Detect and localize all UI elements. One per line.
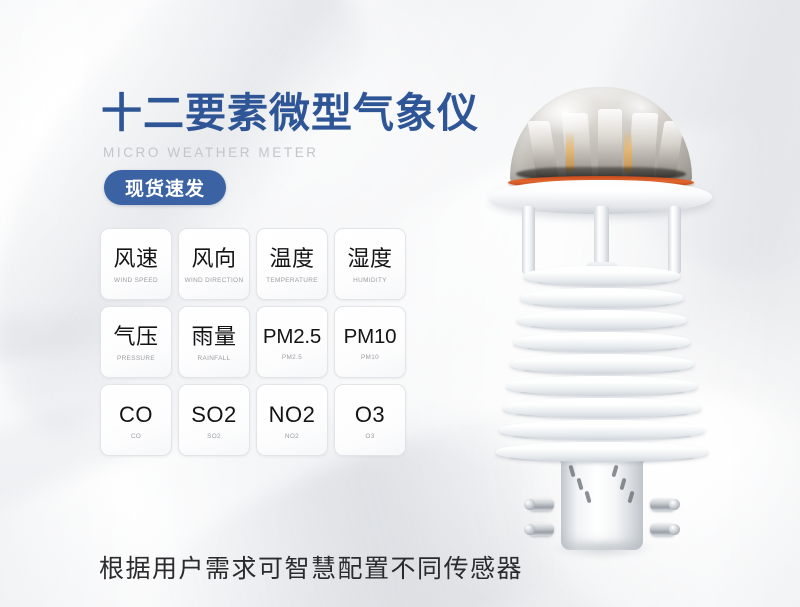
feature-cell[interactable]: SO2SO2: [178, 384, 250, 456]
feature-label-en: SO2: [207, 433, 221, 440]
feature-label-en: WIND DIRECTION: [185, 277, 244, 284]
louver-plate: [503, 398, 701, 418]
cable-connector-left-1: [528, 498, 554, 511]
feature-label-cn: NO2: [269, 403, 316, 426]
louver-plate: [510, 354, 694, 374]
page-title: 十二要素微型气象仪: [101, 92, 479, 135]
feature-label-cn: O3: [355, 403, 385, 426]
support-post-1: [522, 206, 535, 274]
feature-cell[interactable]: 风速WIND SPEED: [100, 228, 172, 300]
feature-label-cn: SO2: [191, 403, 237, 426]
cable-connector-right-1: [650, 498, 676, 511]
product-image-micro-weather-station: [466, 80, 738, 590]
dome-amber-element-1: [566, 131, 574, 171]
feature-label-cn: 雨量: [191, 325, 236, 348]
support-post-3: [668, 206, 681, 274]
top-collar-highlight: [510, 186, 690, 193]
feature-label-cn: 气压: [113, 325, 158, 348]
feature-cell[interactable]: O3O3: [334, 384, 406, 456]
base-vent-slot: [611, 465, 618, 478]
louver-plate: [496, 442, 708, 462]
feature-label-cn: 湿度: [347, 247, 392, 270]
feature-label-cn: PM2.5: [263, 326, 321, 348]
base-vent-slot: [627, 491, 634, 504]
feature-label-cn: PM10: [344, 326, 397, 348]
base-vent-slot: [576, 478, 583, 491]
feature-label-cn: 温度: [269, 247, 314, 270]
louver-plate: [507, 376, 698, 396]
feature-cell[interactable]: 风向WIND DIRECTION: [178, 228, 250, 300]
base-drop-shadow: [552, 542, 654, 558]
feature-cell[interactable]: 雨量RAINFALL: [178, 306, 250, 378]
louver-plate: [521, 288, 684, 308]
feature-label-en: WIND SPEED: [114, 277, 158, 284]
cable-connector-left-2: [528, 523, 554, 536]
louver-plate: [514, 332, 691, 352]
caption-text: 根据用户需求可智慧配置不同传感器: [99, 549, 523, 585]
feature-cell[interactable]: NO2NO2: [256, 384, 328, 456]
feature-cell[interactable]: 湿度HUMIDITY: [334, 228, 406, 300]
feature-cell[interactable]: 温度TEMPERATURE: [256, 228, 328, 300]
feature-label-en: NO2: [285, 433, 299, 440]
feature-label-en: PM10: [361, 354, 379, 361]
feature-label-en: TEMPERATURE: [266, 277, 318, 284]
feature-label-en: HUMIDITY: [353, 277, 387, 284]
base-vent-slot: [619, 478, 626, 491]
feature-label-en: RAINFALL: [198, 355, 231, 362]
product-banner: 十二要素微型气象仪 MICRO WEATHER METER 现货速发 风速WIN…: [0, 0, 800, 607]
radiation-shield-louver-stack: [466, 266, 738, 466]
page-subtitle: MICRO WEATHER METER: [103, 145, 319, 160]
feature-label-cn: CO: [119, 403, 153, 426]
feature-label-en: CO: [131, 433, 141, 440]
feature-label-en: O3: [365, 433, 374, 440]
sensor-dome: [510, 87, 692, 185]
feature-label-cn: 风向: [191, 247, 236, 270]
feature-label-en: PM2.5: [282, 354, 302, 361]
feature-label-cn: 风速: [113, 247, 158, 270]
status-badge[interactable]: 现货速发: [104, 170, 226, 205]
cable-connector-right-2: [650, 523, 676, 536]
base-vent-slot: [568, 465, 575, 478]
base-cylinder: [561, 458, 643, 550]
louver-plate: [524, 266, 680, 286]
feature-grid: 风速WIND SPEED风向WIND DIRECTION温度TEMPERATUR…: [100, 228, 406, 456]
feature-cell[interactable]: PM10PM10: [334, 306, 406, 378]
louver-plate: [517, 310, 687, 330]
louver-plate: [500, 420, 705, 440]
feature-cell[interactable]: PM2.5PM2.5: [256, 306, 328, 378]
base-vent-slot: [584, 491, 591, 504]
feature-cell[interactable]: COCO: [100, 384, 172, 456]
